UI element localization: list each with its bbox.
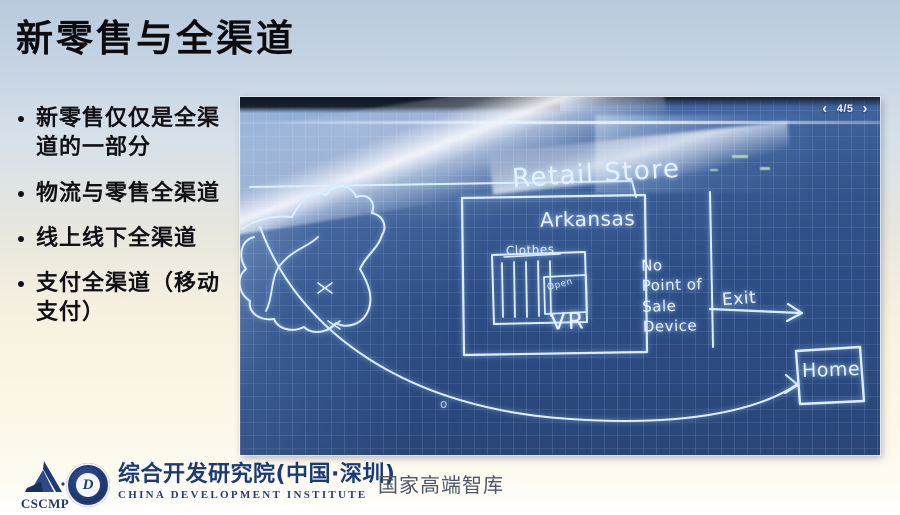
- no-point-of-sale-note: No Point of Sale Device: [641, 254, 704, 337]
- retail-store-heading: Retail Store: [511, 154, 681, 194]
- think-tank-label: 国家高端智库: [378, 469, 504, 498]
- cscmp-label: CSCMP: [14, 496, 76, 512]
- arkansas-label: Arkansas: [540, 206, 636, 232]
- list-item: 支付全渠道（移动支付）: [12, 269, 228, 328]
- clothes-label: Clothes: [506, 242, 555, 258]
- seal-monogram: D: [76, 473, 100, 497]
- vr-label: VR: [550, 308, 587, 335]
- whiteboard-text-layer: Retail Store Arkansas Clothes Open VR No…: [240, 97, 880, 455]
- nav-divider: [240, 121, 880, 124]
- home-label: Home: [802, 358, 861, 382]
- stray-mark: o: [440, 397, 448, 411]
- cdi-wordmark: 综合开发研究院(中国·深圳) CHINA DEVELOPMENT INSTITU…: [118, 463, 395, 501]
- bullet-list: 新零售仅仅是全渠道的一部分 物流与零售全渠道 线上线下全渠道 支付全渠道（移动支…: [12, 104, 228, 344]
- list-item: 物流与零售全渠道: [12, 179, 228, 208]
- next-arrow-icon[interactable]: ›: [863, 101, 869, 116]
- institute-name-en: CHINA DEVELOPMENT INSTITUTE: [118, 489, 395, 501]
- photo-nav[interactable]: ‹ 4/5 ›: [822, 101, 868, 116]
- list-item: 新零售仅仅是全渠道的一部分: [12, 104, 228, 163]
- institute-name-cn: 综合开发研究院(中国·深圳): [118, 463, 395, 487]
- photo-counter: 4/5: [837, 103, 854, 115]
- rack-tag-label: Open: [546, 277, 574, 293]
- prev-arrow-icon[interactable]: ‹: [822, 101, 828, 116]
- slide: 新零售与全渠道 新零售仅仅是全渠道的一部分 物流与零售全渠道 线上线下全渠道 支…: [0, 0, 900, 515]
- page-title: 新零售与全渠道: [16, 8, 296, 62]
- whiteboard-photo: Retail Store Arkansas Clothes Open VR No…: [240, 97, 880, 455]
- exit-label: Exit: [721, 288, 757, 310]
- footer: CSCMP D 综合开发研究院(中国·深圳) CHINA DEVELOPMENT…: [0, 455, 900, 515]
- list-item: 线上线下全渠道: [12, 224, 228, 253]
- cdi-seal-logo: D: [66, 463, 110, 507]
